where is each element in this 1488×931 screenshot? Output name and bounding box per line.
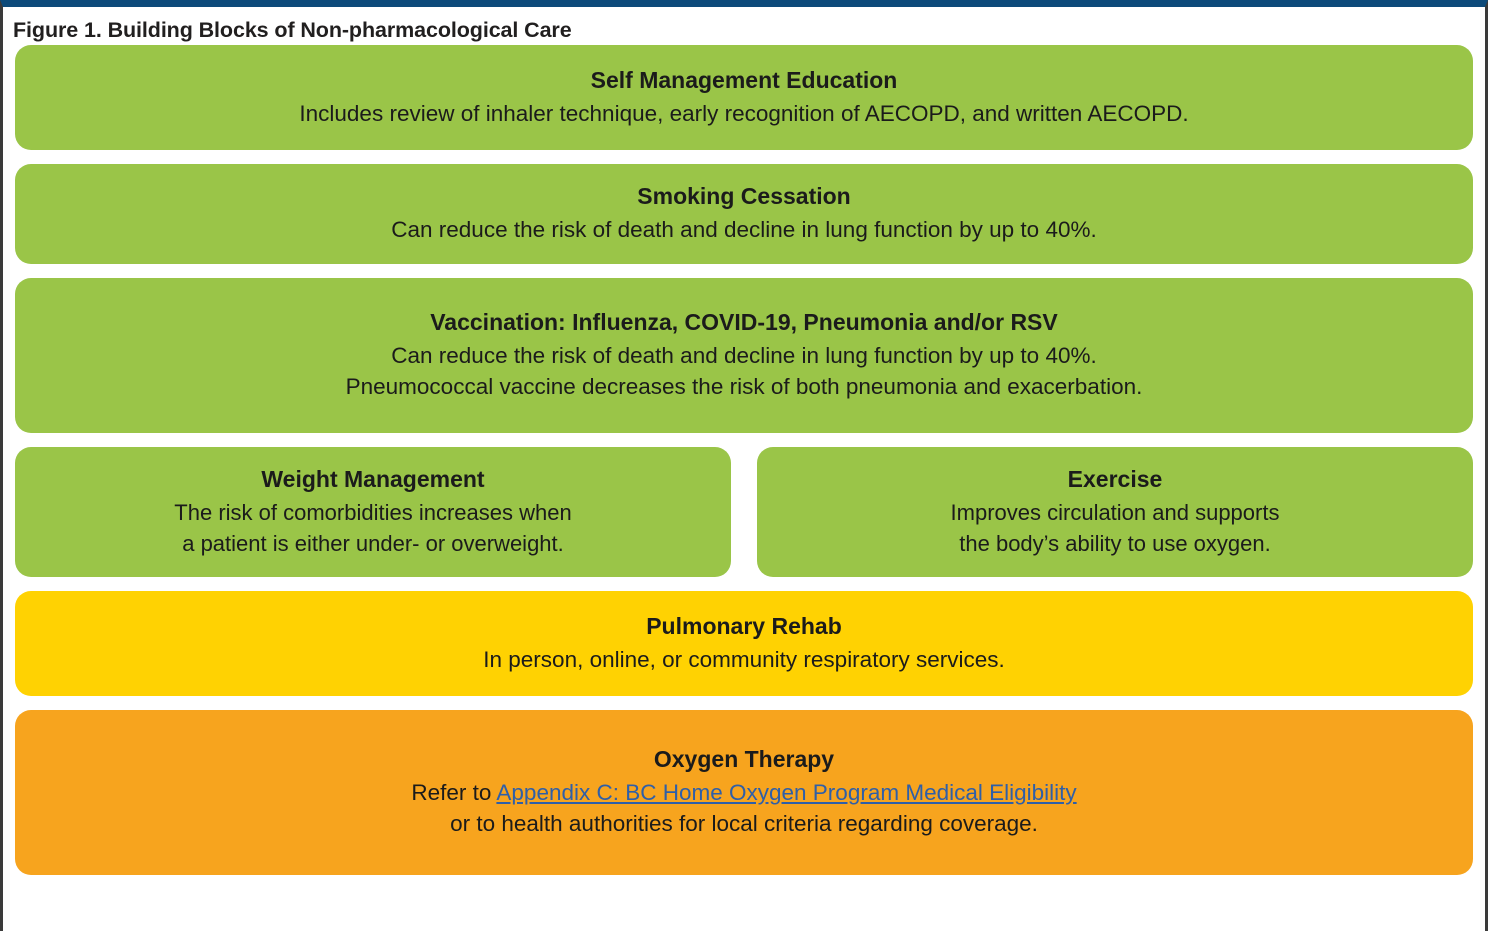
figure-title: Figure 1. Building Blocks of Non-pharmac… bbox=[3, 7, 1485, 45]
block-self-management-education: Self Management Education Includes revie… bbox=[15, 45, 1473, 150]
block-exercise: Exercise Improves circulation and suppor… bbox=[757, 447, 1473, 577]
block-line: or to health authorities for local crite… bbox=[450, 808, 1038, 839]
block-line: the body’s ability to use oxygen. bbox=[959, 528, 1270, 559]
block-smoking-cessation: Smoking Cessation Can reduce the risk of… bbox=[15, 164, 1473, 264]
block-line: In person, online, or community respirat… bbox=[483, 644, 1004, 675]
block-line: Pneumococcal vaccine decreases the risk … bbox=[346, 371, 1143, 402]
block-line: a patient is either under- or overweight… bbox=[182, 528, 564, 559]
block-title: Self Management Education bbox=[591, 65, 898, 96]
blocks-row: Weight Management The risk of comorbidit… bbox=[15, 447, 1473, 577]
block-pulmonary-rehab: Pulmonary Rehab In person, online, or co… bbox=[15, 591, 1473, 696]
block-title: Pulmonary Rehab bbox=[646, 611, 842, 642]
refer-to-text: Refer to bbox=[411, 780, 496, 805]
block-line: Can reduce the risk of death and decline… bbox=[391, 214, 1096, 245]
block-oxygen-therapy: Oxygen Therapy Refer to Appendix C: BC H… bbox=[15, 710, 1473, 875]
block-title: Weight Management bbox=[261, 464, 484, 495]
block-title: Vaccination: Influenza, COVID-19, Pneumo… bbox=[430, 307, 1058, 338]
blocks-container: Self Management Education Includes revie… bbox=[3, 45, 1485, 875]
block-title: Smoking Cessation bbox=[637, 181, 850, 212]
block-line: The risk of comorbidities increases when bbox=[174, 497, 571, 528]
block-line: Includes review of inhaler technique, ea… bbox=[299, 98, 1188, 129]
block-title: Exercise bbox=[1068, 464, 1163, 495]
block-title: Oxygen Therapy bbox=[654, 744, 834, 775]
appendix-c-link[interactable]: Appendix C: BC Home Oxygen Program Medic… bbox=[496, 780, 1076, 805]
block-weight-management: Weight Management The risk of comorbidit… bbox=[15, 447, 731, 577]
block-line: Improves circulation and supports bbox=[951, 497, 1280, 528]
figure-frame: Figure 1. Building Blocks of Non-pharmac… bbox=[0, 0, 1488, 931]
block-line: Can reduce the risk of death and decline… bbox=[391, 340, 1096, 371]
block-line-with-link: Refer to Appendix C: BC Home Oxygen Prog… bbox=[411, 777, 1076, 808]
block-vaccination: Vaccination: Influenza, COVID-19, Pneumo… bbox=[15, 278, 1473, 433]
